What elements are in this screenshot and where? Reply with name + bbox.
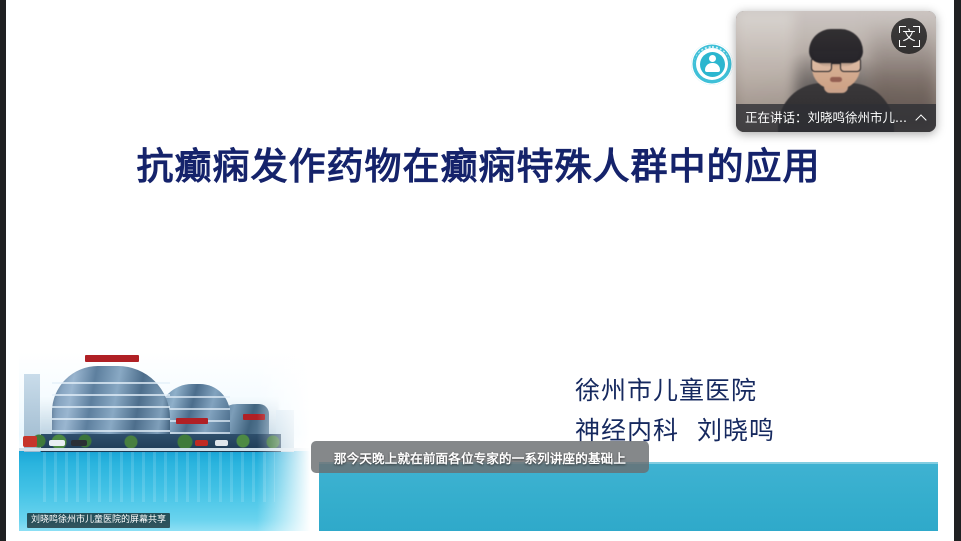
window-right-edge xyxy=(954,0,961,541)
active-speaker-status-bar[interactable]: 正在讲话：刘晓鸣徐州市儿... xyxy=(736,104,936,132)
translate-caption-icon[interactable]: 文 xyxy=(891,18,927,54)
window-left-edge xyxy=(0,0,6,541)
live-caption-box[interactable]: 那今天晚上就在前面各位专家的一系列讲座的基础上 xyxy=(311,441,649,473)
presenter-name: 刘晓鸣 xyxy=(697,416,775,445)
active-speaker-video-thumbnail[interactable]: 文 正在讲话：刘晓鸣徐州市儿... xyxy=(736,11,936,132)
chevron-up-icon[interactable] xyxy=(916,112,928,124)
slide-title: 抗癫痫发作药物在癫痫特殊人群中的应用 xyxy=(19,136,938,190)
hospital-building-photo xyxy=(19,352,319,531)
active-speaker-name: 正在讲话：刘晓鸣徐州市儿... xyxy=(745,110,910,126)
meeting-screen-share-view: 抗癫痫发作药物在癫痫特殊人群中的应用 徐州市儿童医院 神经内科刘晓鸣 xyxy=(0,0,961,541)
screen-share-owner-label: 刘晓鸣徐州市儿童医院的屏幕共享 xyxy=(27,513,170,528)
live-caption-text: 那今天晚上就在前面各位专家的一系列讲座的基础上 xyxy=(334,448,626,467)
hospital-logo-icon xyxy=(691,43,733,85)
presenter-info-block: 徐州市儿童医院 神经内科刘晓鸣 xyxy=(575,371,905,451)
organization-name: 徐州市儿童医院 xyxy=(575,371,905,411)
translate-glyph: 文 xyxy=(891,18,927,54)
